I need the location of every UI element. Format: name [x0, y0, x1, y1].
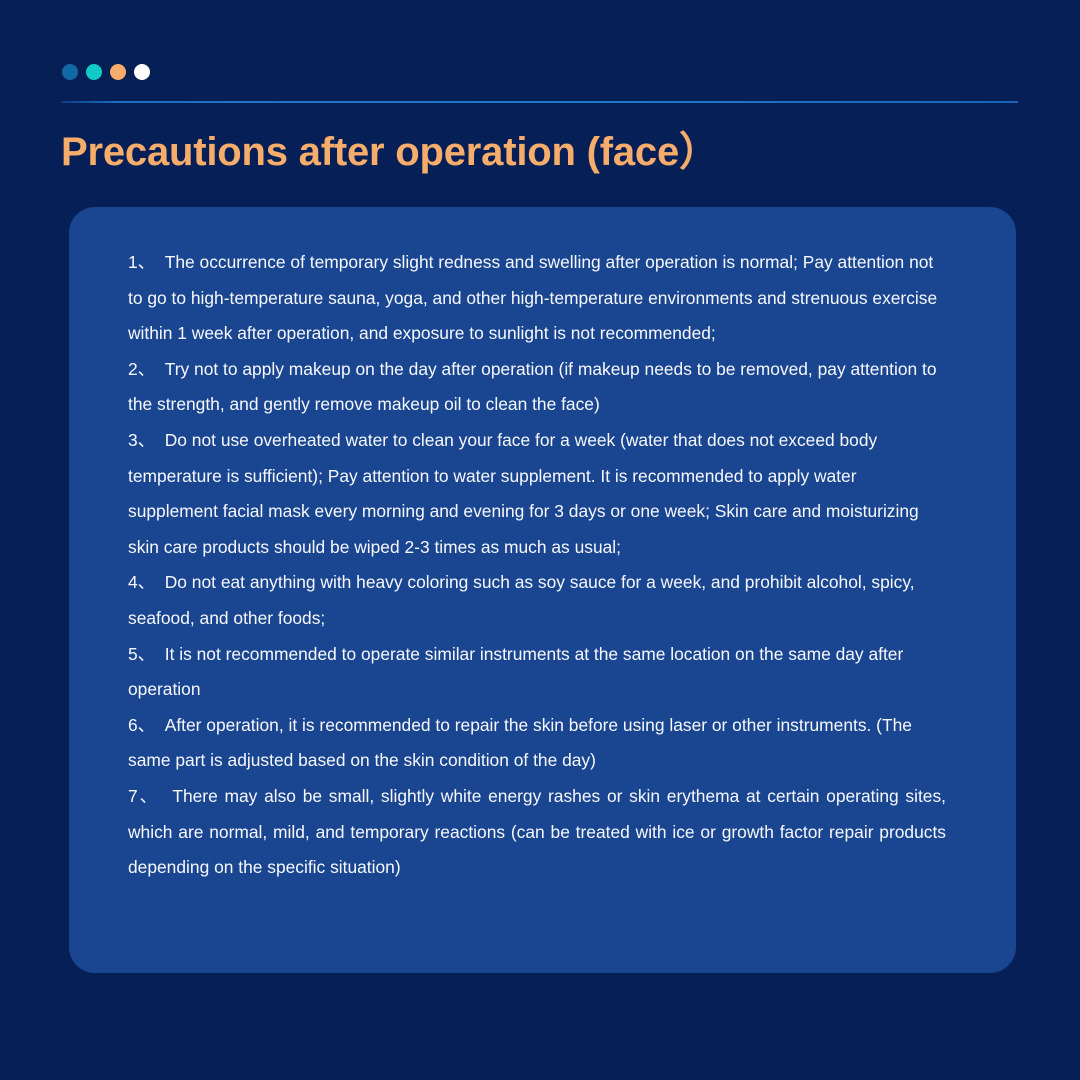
dot-orange-icon: [110, 64, 126, 80]
list-item-text: Do not use overheated water to clean you…: [128, 430, 919, 557]
page-header: [61, 60, 1018, 103]
list-item: 3、 Do not use overheated water to clean …: [128, 423, 946, 565]
dot-white-icon: [134, 64, 150, 80]
list-item-text: Try not to apply makeup on the day after…: [128, 359, 937, 415]
list-item-text: Do not eat anything with heavy coloring …: [128, 572, 915, 628]
list-item: 2、 Try not to apply makeup on the day af…: [128, 352, 946, 423]
list-item-marker: 3、: [128, 430, 155, 450]
list-item-text: There may also be small, slightly white …: [128, 786, 946, 877]
list-item: 6、 After operation, it is recommended to…: [128, 708, 946, 779]
list-item-text: It is not recommended to operate similar…: [128, 644, 903, 700]
content-card: 1、 The occurrence of temporary slight re…: [69, 207, 1016, 973]
list-item-marker: 4、: [128, 572, 155, 592]
list-item-text: After operation, it is recommended to re…: [128, 715, 912, 771]
list-item: 1、 The occurrence of temporary slight re…: [128, 245, 946, 352]
header-divider: [61, 101, 1018, 103]
dot-teal-icon: [86, 64, 102, 80]
list-item-marker: 1、: [128, 252, 155, 272]
list-item: 7、 There may also be small, slightly whi…: [128, 779, 946, 886]
precautions-list: 1、 The occurrence of temporary slight re…: [128, 245, 946, 886]
dot-blue-icon: [62, 64, 78, 80]
list-item-marker: 6、: [128, 715, 155, 735]
decorative-dot-row: [61, 60, 1018, 84]
list-item-text: The occurrence of temporary slight redne…: [128, 252, 937, 343]
page-title: Precautions after operation (face）: [61, 128, 719, 176]
list-item-marker: 7、: [128, 786, 159, 806]
list-item: 4、 Do not eat anything with heavy colori…: [128, 565, 946, 636]
list-item: 5、 It is not recommended to operate simi…: [128, 637, 946, 708]
list-item-marker: 5、: [128, 644, 155, 664]
list-item-marker: 2、: [128, 359, 155, 379]
